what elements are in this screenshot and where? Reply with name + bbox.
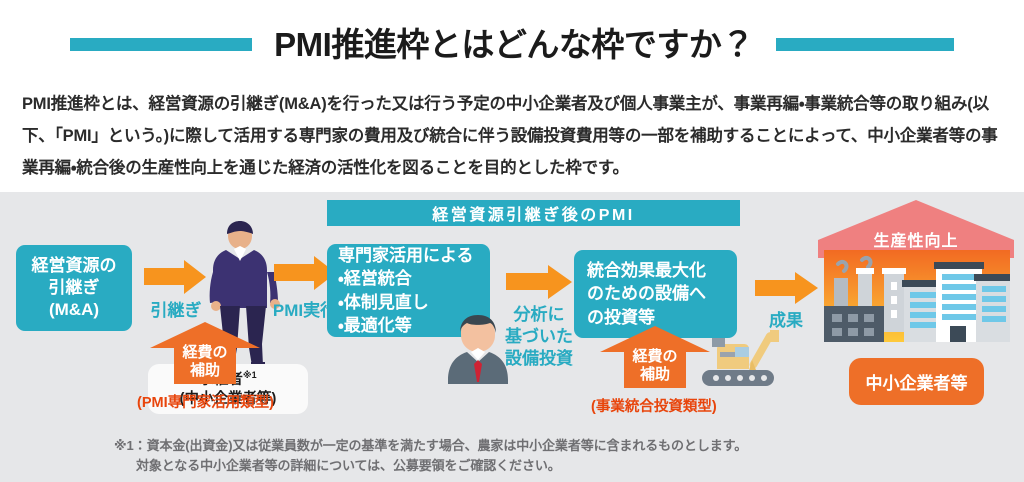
- page-title: PMI推進枠とはどんな枠ですか？: [274, 28, 754, 61]
- subsidy-left-marker: 経費の 補助: [150, 322, 260, 384]
- pmi-banner: 経営資源引継ぎ後のPMI: [327, 200, 740, 226]
- step-investment-line2: のための設備へ: [587, 282, 737, 305]
- subsidy-left-line1: 経費の: [150, 344, 260, 362]
- subsidy-right-line1: 経費の: [600, 348, 710, 366]
- arrow-analysis-line3: 設備投資: [496, 348, 582, 370]
- step-ma-box: 経営資源の 引継ぎ (M&A): [16, 245, 132, 331]
- subsidy-right-text: 経費の 補助: [600, 326, 710, 384]
- footnote-line1: ※1：資本金(出資金)又は従業員数が一定の基準を満たす場合、農家は中小企業者等に…: [114, 436, 747, 456]
- arrow-analysis-icon: [506, 265, 572, 299]
- arrow-result-icon: [755, 272, 819, 304]
- subsidy-right-line2: 補助: [600, 366, 710, 384]
- step-investment-box: 統合効果最大化 のための設備へ の投資等: [574, 250, 737, 338]
- type-label-investment: (事業統合投資類型): [591, 395, 717, 416]
- arrow-analysis-line2: 基づいた: [496, 326, 582, 348]
- step-expert-line1: 専門家活用による: [338, 244, 490, 267]
- footnote-block: ※1：資本金(出資金)又は従業員数が一定の基準を満たす場合、農家は中小企業者等に…: [114, 436, 747, 476]
- subsidy-left-text: 経費の 補助: [150, 322, 260, 380]
- infographic-page: PMI推進枠とはどんな枠ですか？ PMI推進枠とは、経営資源の引継ぎ(M&A)を…: [0, 0, 1024, 482]
- productivity-roof-label: 生産性向上: [818, 227, 1014, 251]
- subsidy-left-line2: 補助: [150, 362, 260, 380]
- sme-cta-badge: 中小企業者等: [849, 358, 984, 405]
- diagram-panel: 経営資源引継ぎ後のPMI 経営資源の 引継ぎ (M&A) 引継ぎ: [0, 192, 1024, 482]
- excavator-illustration: [694, 330, 804, 392]
- description-paragraph: PMI推進枠とは、経営資源の引継ぎ(M&A)を行った又は行う予定の中小企業者及び…: [22, 88, 1004, 185]
- page-header: PMI推進枠とはどんな枠ですか？: [0, 20, 1024, 68]
- step-investment-line1: 統合効果最大化: [587, 259, 737, 282]
- arrow-analysis-label: 分析に 基づいた 設備投資: [496, 304, 582, 369]
- step-ma-line1: 経営資源の: [32, 255, 117, 277]
- step-expert-line3: ・体制見直し: [338, 291, 490, 314]
- step-ma-line2: 引継ぎ: [49, 277, 100, 299]
- header-rule-left: [70, 38, 252, 51]
- step-ma-line3: (M&A): [49, 299, 99, 321]
- type-label-expert: (PMI専門家活用類型): [137, 391, 274, 412]
- subsidy-right-marker: 経費の 補助: [600, 326, 710, 388]
- arrow-analysis-line1: 分析に: [496, 304, 582, 326]
- arrow-result-label: 成果: [757, 310, 815, 332]
- factory-city-illustration: [824, 250, 1010, 352]
- step-expert-line2: ・経営統合: [338, 267, 490, 290]
- header-rule-right: [776, 38, 954, 51]
- footnote-line2: 対象となる中小企業者等の詳細については、公募要領をご確認ください。: [114, 456, 747, 476]
